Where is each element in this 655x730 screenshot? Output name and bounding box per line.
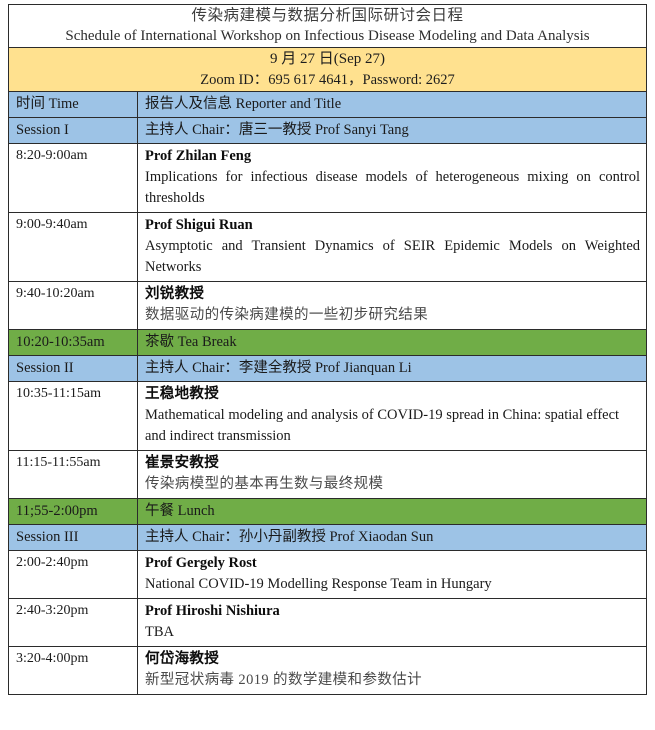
talk-speaker: Prof Hiroshi Nishiura bbox=[145, 601, 640, 622]
talk-row: 9:00-9:40amProf Shigui RuanAsymptotic an… bbox=[9, 213, 647, 282]
talk-speaker: 何岱海教授 bbox=[145, 649, 640, 670]
workshop-title-chinese: 传染病建模与数据分析国际研讨会日程 bbox=[9, 5, 646, 26]
session-chair: 主持人 Chair：李建全教授 Prof Jianquan Li bbox=[145, 360, 412, 376]
break-row: 10:20-10:35am茶歇 Tea Break bbox=[9, 330, 647, 356]
workshop-date: 9 月 27 日(Sep 27) bbox=[9, 48, 646, 70]
column-header-info-cell: 报告人及信息 Reporter and Title bbox=[138, 92, 647, 118]
column-header-time-cell: 时间 Time bbox=[9, 92, 138, 118]
talk-time: 2:40-3:20pm bbox=[16, 603, 88, 618]
session-label-cell: Session I bbox=[9, 118, 138, 144]
session-chair: 主持人 Chair：唐三一教授 Prof Sanyi Tang bbox=[145, 122, 409, 138]
talk-info-cell: Prof Gergely RostNational COVID-19 Model… bbox=[138, 551, 647, 599]
talk-speaker: 刘锐教授 bbox=[145, 284, 640, 305]
talk-title: 数据驱动的传染病建模的一些初步研究结果 bbox=[145, 305, 640, 326]
talk-time: 11:15-11:55am bbox=[16, 455, 101, 470]
talk-info-cell: 王稳地教授Mathematical modeling and analysis … bbox=[138, 382, 647, 451]
talk-title: National COVID-19 Modelling Response Tea… bbox=[145, 574, 640, 595]
date-row: 9 月 27 日(Sep 27) Zoom ID：695 617 4641，Pa… bbox=[9, 48, 647, 92]
session-chair-cell: 主持人 Chair：李建全教授 Prof Jianquan Li bbox=[138, 356, 647, 382]
talk-time-cell: 2:40-3:20pm bbox=[9, 599, 138, 647]
talk-row: 2:00-2:40pmProf Gergely RostNational COV… bbox=[9, 551, 647, 599]
talk-title: Mathematical modeling and analysis of CO… bbox=[145, 405, 640, 447]
workshop-title-english: Schedule of International Workshop on In… bbox=[9, 26, 646, 47]
talk-time-cell: 3:20-4:00pm bbox=[9, 647, 138, 695]
column-header-time: 时间 Time bbox=[9, 92, 137, 117]
talk-row: 8:20-9:00amProf Zhilan FengImplications … bbox=[9, 144, 647, 213]
talk-info-cell: Prof Shigui RuanAsymptotic and Transient… bbox=[138, 213, 647, 282]
schedule-table-body: 传染病建模与数据分析国际研讨会日程 Schedule of Internatio… bbox=[9, 5, 647, 695]
talk-speaker: Prof Gergely Rost bbox=[145, 553, 640, 574]
title-row: 传染病建模与数据分析国际研讨会日程 Schedule of Internatio… bbox=[9, 5, 647, 48]
talk-time-cell: 8:20-9:00am bbox=[9, 144, 138, 213]
talk-speaker: 王稳地教授 bbox=[145, 384, 640, 405]
talk-info-cell: 崔景安教授传染病模型的基本再生数与最终规模 bbox=[138, 451, 647, 499]
schedule-table: 传染病建模与数据分析国际研讨会日程 Schedule of Internatio… bbox=[8, 4, 647, 695]
talk-title: TBA bbox=[145, 622, 640, 643]
column-header-info: 报告人及信息 Reporter and Title bbox=[138, 92, 646, 117]
break-label-cell: 茶歇 Tea Break bbox=[138, 330, 647, 356]
session-label-cell: Session II bbox=[9, 356, 138, 382]
talk-time-cell: 9:00-9:40am bbox=[9, 213, 138, 282]
talk-time: 9:40-10:20am bbox=[16, 286, 95, 301]
session-label-cell: 10:20-10:35am bbox=[9, 330, 138, 356]
break-label: 茶歇 Tea Break bbox=[145, 334, 237, 350]
talk-time: 8:20-9:00am bbox=[16, 148, 88, 163]
zoom-meeting-info: Zoom ID：695 617 4641，Password: 2627 bbox=[9, 70, 646, 91]
column-header-row: 时间 Time 报告人及信息 Reporter and Title bbox=[9, 92, 647, 118]
talk-speaker: 崔景安教授 bbox=[145, 453, 640, 474]
break-row: 11;55-2:00pm午餐 Lunch bbox=[9, 499, 647, 525]
talk-time: 2:00-2:40pm bbox=[16, 555, 88, 570]
talk-row: 3:20-4:00pm何岱海教授新型冠状病毒 2019 的数学建模和参数估计 bbox=[9, 647, 647, 695]
talk-info-cell: Prof Hiroshi NishiuraTBA bbox=[138, 599, 647, 647]
session-chair-cell: 主持人 Chair：唐三一教授 Prof Sanyi Tang bbox=[138, 118, 647, 144]
schedule-page: 传染病建模与数据分析国际研讨会日程 Schedule of Internatio… bbox=[0, 0, 655, 730]
session-label: Session III bbox=[16, 529, 78, 545]
session-label: Session II bbox=[16, 360, 74, 376]
title-cell: 传染病建模与数据分析国际研讨会日程 Schedule of Internatio… bbox=[9, 5, 647, 48]
session-header-row: Session II主持人 Chair：李建全教授 Prof Jianquan … bbox=[9, 356, 647, 382]
session-chair-cell: 主持人 Chair：孙小丹副教授 Prof Xiaodan Sun bbox=[138, 525, 647, 551]
talk-row: 10:35-11:15am王稳地教授Mathematical modeling … bbox=[9, 382, 647, 451]
talk-row: 11:15-11:55am崔景安教授传染病模型的基本再生数与最终规模 bbox=[9, 451, 647, 499]
talk-title: Asymptotic and Transient Dynamics of SEI… bbox=[145, 236, 640, 278]
session-chair: 主持人 Chair：孙小丹副教授 Prof Xiaodan Sun bbox=[145, 529, 433, 545]
talk-time-cell: 2:00-2:40pm bbox=[9, 551, 138, 599]
session-label-cell: 11;55-2:00pm bbox=[9, 499, 138, 525]
session-label-cell: Session III bbox=[9, 525, 138, 551]
break-label: 午餐 Lunch bbox=[145, 503, 215, 519]
session-header-row: Session III主持人 Chair：孙小丹副教授 Prof Xiaodan… bbox=[9, 525, 647, 551]
talk-title: Implications for infectious disease mode… bbox=[145, 167, 640, 209]
talk-row: 2:40-3:20pmProf Hiroshi NishiuraTBA bbox=[9, 599, 647, 647]
talk-title: 传染病模型的基本再生数与最终规模 bbox=[145, 474, 640, 495]
talk-info-cell: 刘锐教授数据驱动的传染病建模的一些初步研究结果 bbox=[138, 282, 647, 330]
session-label: Session I bbox=[16, 122, 69, 138]
break-time: 11;55-2:00pm bbox=[16, 503, 98, 519]
break-time: 10:20-10:35am bbox=[16, 334, 105, 350]
talk-time-cell: 9:40-10:20am bbox=[9, 282, 138, 330]
talk-time: 9:00-9:40am bbox=[16, 217, 88, 232]
talk-title: 新型冠状病毒 2019 的数学建模和参数估计 bbox=[145, 670, 640, 691]
talk-info-cell: 何岱海教授新型冠状病毒 2019 的数学建模和参数估计 bbox=[138, 647, 647, 695]
talk-row: 9:40-10:20am刘锐教授数据驱动的传染病建模的一些初步研究结果 bbox=[9, 282, 647, 330]
talk-time: 10:35-11:15am bbox=[16, 386, 101, 401]
talk-info-cell: Prof Zhilan FengImplications for infecti… bbox=[138, 144, 647, 213]
talk-time-cell: 11:15-11:55am bbox=[9, 451, 138, 499]
talk-speaker: Prof Zhilan Feng bbox=[145, 146, 640, 167]
session-header-row: Session I主持人 Chair：唐三一教授 Prof Sanyi Tang bbox=[9, 118, 647, 144]
talk-time-cell: 10:35-11:15am bbox=[9, 382, 138, 451]
date-cell: 9 月 27 日(Sep 27) Zoom ID：695 617 4641，Pa… bbox=[9, 48, 647, 92]
break-label-cell: 午餐 Lunch bbox=[138, 499, 647, 525]
talk-speaker: Prof Shigui Ruan bbox=[145, 215, 640, 236]
talk-time: 3:20-4:00pm bbox=[16, 651, 88, 666]
